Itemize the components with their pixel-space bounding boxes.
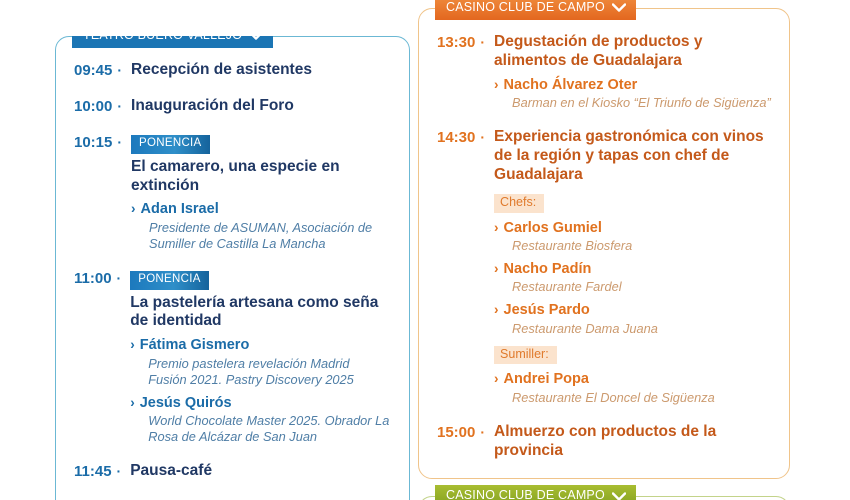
speaker-name-row: › Jesús Pardo [494, 302, 771, 319]
schedule-row: 11:45 · Pausa-café [74, 462, 391, 481]
speaker-name: Nacho Padín [504, 261, 592, 278]
row-body: Pausa-café [121, 462, 391, 481]
speaker-name: Andrei Popa [504, 371, 589, 388]
time-cell: 10:15 · [74, 133, 122, 252]
speaker-role: Restaurante Dama Juana [494, 321, 771, 337]
venue-tab-teatro-buero-vallejo[interactable]: TEATRO BUERO VALLEJO [72, 36, 273, 48]
row-body: Degustación de productos y alimentos de … [485, 33, 771, 111]
session-title: La pastelería artesana como seña de iden… [130, 294, 391, 332]
venue-card-casino-club-de-campo-postres: CASINO CLUB DE CAMPO 16:15 · Presentació… [418, 496, 790, 500]
schedule-row: 09:45 · Recepción de asistentes [74, 61, 391, 80]
category-badge: PONENCIA [130, 271, 208, 290]
schedule-row: 10:15 · PONENCIA El camarero, una especi… [74, 133, 391, 252]
time-label: 11:00 [74, 270, 112, 287]
speaker-role: Premio pastelera revelación Madrid Fusió… [130, 356, 391, 388]
speaker-name-row: › Carlos Gumiel [494, 220, 771, 237]
venue-tab-label: CASINO CLUB DE CAMPO [446, 0, 605, 16]
row-body: PONENCIA El camarero, una especie en ext… [122, 133, 391, 252]
chevron-right-icon: › [494, 261, 499, 277]
speaker-name-row: › Nacho Padín [494, 261, 771, 278]
session-title: Inauguración del Foro [131, 97, 391, 116]
speaker-list: › Adan Israel Presidente de ASUMAN, Asoc… [131, 201, 391, 251]
time-cell: 10:00 · [74, 97, 122, 116]
schedule-row: 14:30 · Experiencia gastronómica con vin… [437, 128, 771, 405]
venue-tab-label: TEATRO BUERO VALLEJO [83, 36, 242, 44]
speaker-name: Jesús Pardo [504, 302, 590, 319]
time-cell: 09:45 · [74, 61, 122, 80]
speaker-name: Fátima Gismero [140, 337, 250, 354]
time-cell: 11:45 · [74, 462, 121, 481]
left-column: TEATRO BUERO VALLEJO 09:45 · Recepción d… [55, 36, 410, 500]
chevron-down-icon[interactable] [249, 36, 263, 40]
speaker-role: Barman en el Kiosko “El Triunfo de Sigüe… [494, 95, 771, 111]
chevron-right-icon: › [131, 201, 136, 217]
speaker-list-sumiller: › Andrei Popa Restaurante El Doncel de S… [494, 371, 771, 405]
speaker-item: › Andrei Popa Restaurante El Doncel de S… [494, 371, 771, 405]
chevron-right-icon: › [130, 337, 135, 353]
chevron-right-icon: › [130, 395, 135, 411]
chevron-right-icon: › [494, 302, 499, 318]
speaker-item: › Nacho Álvarez Oter Barman en el Kiosko… [494, 77, 771, 111]
venue-tab-label: CASINO CLUB DE CAMPO [446, 488, 605, 500]
venue-tab-casino-club-de-campo-tarde[interactable]: CASINO CLUB DE CAMPO [435, 0, 636, 20]
session-title: Almuerzo con productos de la provincia [494, 423, 771, 461]
speaker-item: › Jesús Quirós World Chocolate Master 20… [130, 395, 391, 445]
row-body: PONENCIA La pastelería artesana como señ… [121, 269, 391, 445]
right-column: CASINO CLUB DE CAMPO 13:30 · Degustación… [418, 8, 790, 500]
speaker-name-row: › Jesús Quirós [130, 395, 391, 412]
speaker-item: › Fátima Gismero Premio pastelera revela… [130, 337, 391, 387]
speaker-name-row: › Adan Israel [131, 201, 391, 218]
speaker-role: Restaurante Biosfera [494, 238, 771, 254]
row-body: Recepción de asistentes [122, 61, 391, 80]
time-label: 10:00 [74, 98, 112, 115]
session-title: Pausa-café [130, 462, 391, 481]
speaker-item: › Adan Israel Presidente de ASUMAN, Asoc… [131, 201, 391, 251]
category-badge: PONENCIA [131, 135, 209, 154]
speaker-name-row: › Nacho Álvarez Oter [494, 77, 771, 94]
chevron-right-icon: › [494, 371, 499, 387]
time-cell: 14:30 · [437, 128, 485, 405]
time-cell: 13:30 · [437, 33, 485, 111]
schedule-row: 11:00 · PONENCIA La pastelería artesana … [74, 269, 391, 445]
speaker-item: › Carlos Gumiel Restaurante Biosfera [494, 220, 771, 254]
speaker-list: › Fátima Gismero Premio pastelera revela… [130, 337, 391, 445]
row-body: Experiencia gastronómica con vinos de la… [485, 128, 771, 405]
speaker-list: › Nacho Álvarez Oter Barman en el Kiosko… [494, 77, 771, 111]
session-title: Experiencia gastronómica con vinos de la… [494, 128, 771, 185]
speaker-role: World Chocolate Master 2025. Obrador La … [130, 413, 391, 445]
row-body: Almuerzo con productos de la provincia [485, 423, 771, 461]
row-body: Inauguración del Foro [122, 97, 391, 116]
group-label-sumiller: Sumiller: [494, 346, 557, 365]
speaker-role: Restaurante Fardel [494, 279, 771, 295]
time-cell: 11:00 · [74, 269, 121, 445]
chevron-down-icon[interactable] [612, 3, 626, 12]
speaker-item: › Jesús Pardo Restaurante Dama Juana [494, 302, 771, 336]
venue-card-teatro-buero-vallejo: TEATRO BUERO VALLEJO 09:45 · Recepción d… [55, 36, 410, 500]
time-label: 15:00 [437, 424, 475, 441]
time-label: 09:45 [74, 62, 112, 79]
time-label: 11:45 [74, 463, 112, 480]
schedule-page: TEATRO BUERO VALLEJO 09:45 · Recepción d… [0, 0, 850, 500]
time-label: 14:30 [437, 129, 475, 146]
group-label-chefs: Chefs: [494, 194, 544, 213]
session-title: Recepción de asistentes [131, 61, 391, 80]
speaker-role: Restaurante El Doncel de Sigüenza [494, 390, 771, 406]
time-label: 13:30 [437, 34, 475, 51]
time-cell: 15:00 · [437, 423, 485, 461]
schedule-row: 10:00 · Inauguración del Foro [74, 97, 391, 116]
speaker-name: Nacho Álvarez Oter [504, 77, 638, 94]
speaker-name: Carlos Gumiel [504, 220, 602, 237]
session-title: El camarero, una especie en extinción [131, 158, 391, 196]
speaker-item: › Nacho Padín Restaurante Fardel [494, 261, 771, 295]
speaker-name-row: › Fátima Gismero [130, 337, 391, 354]
venue-tab-casino-club-de-campo-postres[interactable]: CASINO CLUB DE CAMPO [435, 485, 636, 500]
speaker-role: Presidente de ASUMAN, Asociación de Sumi… [131, 220, 391, 252]
speaker-list-chefs: › Carlos Gumiel Restaurante Biosfera › N… [494, 220, 771, 337]
time-label: 10:15 [74, 134, 112, 151]
schedule-row: 13:30 · Degustación de productos y alime… [437, 33, 771, 111]
speaker-name: Jesús Quirós [140, 395, 232, 412]
chevron-right-icon: › [494, 220, 499, 236]
chevron-down-icon[interactable] [612, 492, 626, 500]
session-title: Degustación de productos y alimentos de … [494, 33, 771, 71]
speaker-name: Adan Israel [141, 201, 219, 218]
schedule-row: 15:00 · Almuerzo con productos de la pro… [437, 423, 771, 461]
speaker-name-row: › Andrei Popa [494, 371, 771, 388]
chevron-right-icon: › [494, 77, 499, 93]
venue-card-casino-club-de-campo-tarde: CASINO CLUB DE CAMPO 13:30 · Degustación… [418, 8, 790, 479]
